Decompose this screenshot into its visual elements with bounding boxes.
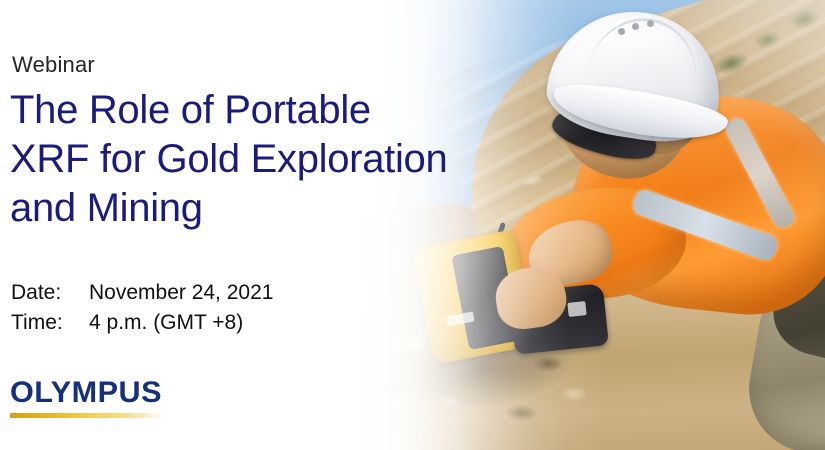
hard-hat-vent	[632, 23, 639, 30]
date-label: Date:	[11, 278, 89, 308]
xrf-analyzer-grip-tag	[567, 301, 586, 317]
hard-hat-vent	[618, 28, 625, 35]
event-details: Date: November 24, 2021 Time: 4 p.m. (GM…	[11, 278, 273, 338]
time-label: Time:	[11, 308, 89, 338]
webinar-banner: Webinar The Role of Portable XRF for Gol…	[0, 0, 825, 450]
eyebrow-label: Webinar	[12, 52, 95, 78]
hard-hat-vent	[647, 20, 654, 27]
date-value: November 24, 2021	[89, 278, 273, 308]
title-line-1: The Role of Portable	[10, 86, 480, 135]
olympus-logo[interactable]: OLYMPUS	[10, 378, 160, 418]
title-line-3: and Mining	[10, 184, 480, 233]
title-line-2: XRF for Gold Exploration	[10, 135, 480, 184]
page-title: The Role of Portable XRF for Gold Explor…	[10, 86, 480, 233]
olympus-wordmark: OLYMPUS	[10, 378, 163, 408]
detail-row-date: Date: November 24, 2021	[11, 278, 273, 308]
detail-row-time: Time: 4 p.m. (GMT +8)	[11, 308, 273, 338]
time-value: 4 p.m. (GMT +8)	[89, 308, 243, 338]
olympus-gold-bar	[10, 413, 160, 418]
